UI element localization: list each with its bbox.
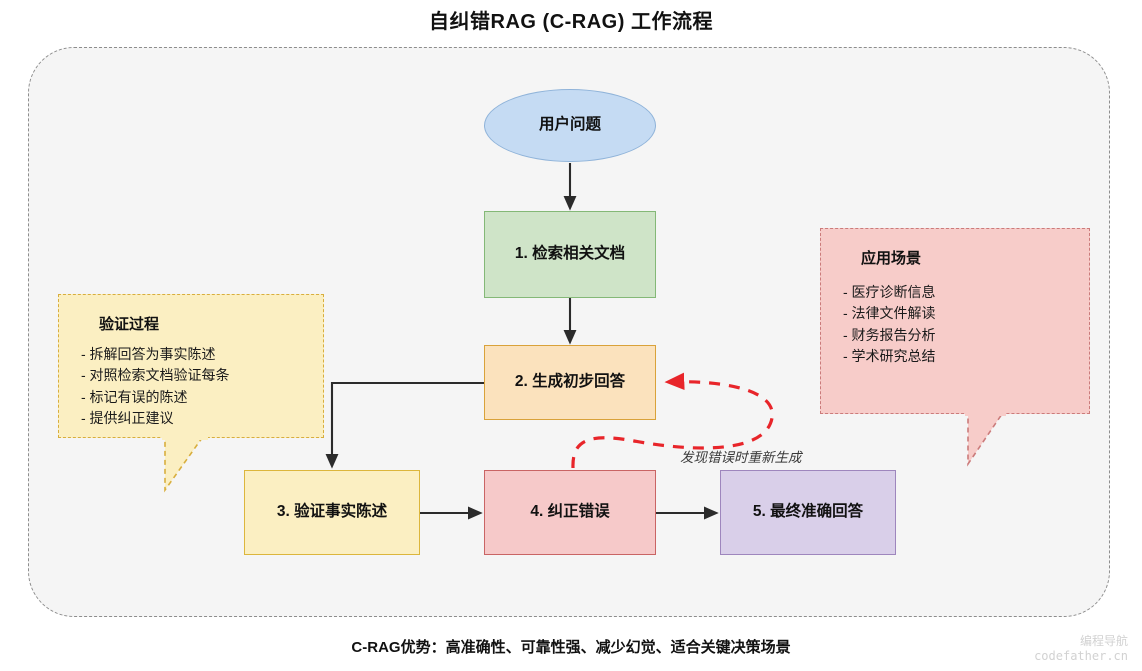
list-item: - 法律文件解读: [843, 303, 1069, 324]
list-item: - 医疗诊断信息: [843, 282, 1069, 303]
watermark-line-1: 编程导航: [1034, 634, 1128, 649]
callout-verification-title: 验证过程: [99, 313, 303, 334]
watermark: 编程导航 codefather.cn: [1034, 634, 1128, 664]
bottom-caption: C-RAG优势：高准确性、可靠性强、减少幻觉、适合关键决策场景: [0, 636, 1142, 657]
node-step-5-final-answer[interactable]: 5. 最终准确回答: [720, 470, 896, 555]
callout-verification-process: 验证过程 - 拆解回答为事实陈述 - 对照检索文档验证每条 - 标记有误的陈述 …: [58, 294, 324, 438]
node-step-4-correct-errors[interactable]: 4. 纠正错误: [484, 470, 656, 555]
node-user-question[interactable]: 用户问题: [484, 89, 656, 162]
list-item: - 提供纠正建议: [81, 408, 303, 429]
diagram-canvas: 自纠错RAG (C-RAG) 工作流程 用户问题 1. 检索相关文档 2. 生成…: [0, 0, 1142, 671]
callout-verification-tail: [150, 436, 220, 496]
list-item: - 财务报告分析: [843, 325, 1069, 346]
node-step-1-retrieve-documents[interactable]: 1. 检索相关文档: [484, 211, 656, 298]
node-step-3-verify-facts[interactable]: 3. 验证事实陈述: [244, 470, 420, 555]
callout-applications-tail: [950, 412, 1020, 470]
list-item: - 对照检索文档验证每条: [81, 365, 303, 386]
retry-edge-label: 发现错误时重新生成: [680, 446, 802, 466]
callout-applications-title: 应用场景: [861, 247, 1069, 268]
page-title: 自纠错RAG (C-RAG) 工作流程: [0, 5, 1142, 34]
list-item: - 学术研究总结: [843, 346, 1069, 367]
node-step-2-generate-draft-answer[interactable]: 2. 生成初步回答: [484, 345, 656, 420]
callout-verification-list: - 拆解回答为事实陈述 - 对照检索文档验证每条 - 标记有误的陈述 - 提供纠…: [81, 344, 303, 429]
watermark-line-2: codefather.cn: [1034, 649, 1128, 664]
list-item: - 标记有误的陈述: [81, 387, 303, 408]
callout-applications-list: - 医疗诊断信息 - 法律文件解读 - 财务报告分析 - 学术研究总结: [843, 282, 1069, 367]
list-item: - 拆解回答为事实陈述: [81, 344, 303, 365]
callout-application-scenarios: 应用场景 - 医疗诊断信息 - 法律文件解读 - 财务报告分析 - 学术研究总结: [820, 228, 1090, 414]
